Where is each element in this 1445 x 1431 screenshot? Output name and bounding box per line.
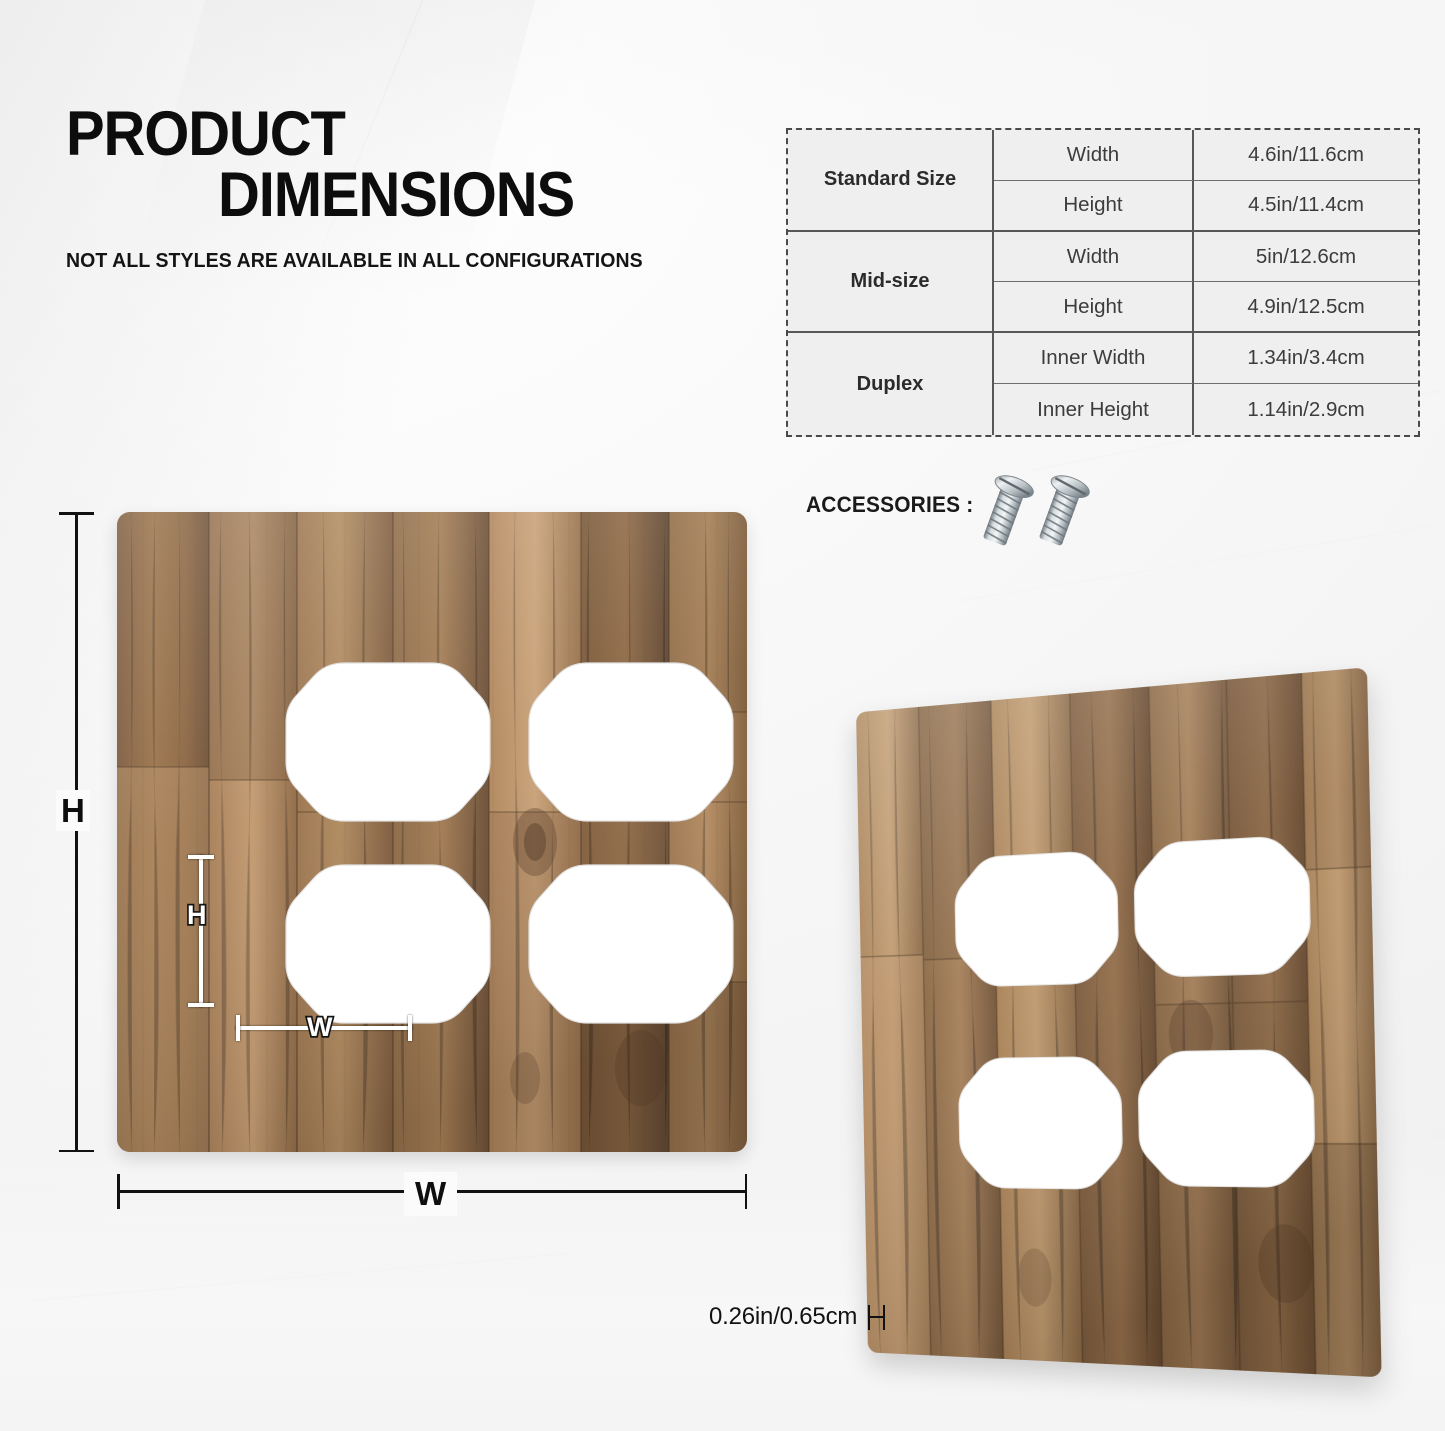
inner-height-label: H (187, 902, 207, 929)
outer-height-label: H (56, 790, 90, 831)
table-property: Height (994, 282, 1194, 333)
wall-plate-angled-view (856, 667, 1382, 1377)
wall-plate-wood-graphic-angled (856, 667, 1382, 1377)
wall-plate-front-view (117, 512, 747, 1152)
table-value: 5in/12.6cm (1194, 232, 1418, 283)
table-value: 4.6in/11.6cm (1194, 130, 1418, 181)
table-group-midsize: Mid-size (788, 232, 994, 334)
title-line-2: DIMENSIONS (218, 165, 722, 226)
outer-height-dimension-line (75, 512, 78, 1152)
inner-width-label: W (307, 1014, 332, 1041)
table-property: Height (994, 181, 1194, 232)
page-subtitle: NOT ALL STYLES ARE AVAILABLE IN ALL CONF… (66, 249, 731, 273)
inner-height-dimension-line (199, 855, 203, 1007)
mounting-screws-group (975, 466, 1095, 558)
table-property: Width (994, 232, 1194, 283)
accessories-label: ACCESSORIES : (806, 492, 973, 518)
table-value: 4.9in/12.5cm (1194, 282, 1418, 333)
table-value: 4.5in/11.4cm (1194, 181, 1418, 232)
screw-icon (975, 466, 1095, 558)
thickness-label: 0.26in/0.65cm (709, 1303, 857, 1331)
page-title: PRODUCT DIMENSIONS NOT ALL STYLES ARE AV… (66, 104, 766, 273)
title-line-1: PRODUCT (66, 104, 710, 165)
table-value: 1.34in/3.4cm (1194, 333, 1418, 384)
table-value: 1.14in/2.9cm (1194, 384, 1418, 435)
table-property: Width (994, 130, 1194, 181)
table-property: Inner Width (994, 333, 1194, 384)
dimensions-table: Standard Size Width 4.6in/11.6cm Height … (786, 128, 1420, 437)
table-property: Inner Height (994, 384, 1194, 435)
product-dimensions-infographic: PRODUCT DIMENSIONS NOT ALL STYLES ARE AV… (0, 0, 1445, 1431)
table-group-duplex: Duplex (788, 333, 994, 435)
thickness-caliper-marker (868, 1316, 885, 1318)
table-group-standard: Standard Size (788, 130, 994, 232)
wall-plate-wood-graphic (117, 512, 747, 1152)
outer-width-label: W (404, 1172, 457, 1216)
